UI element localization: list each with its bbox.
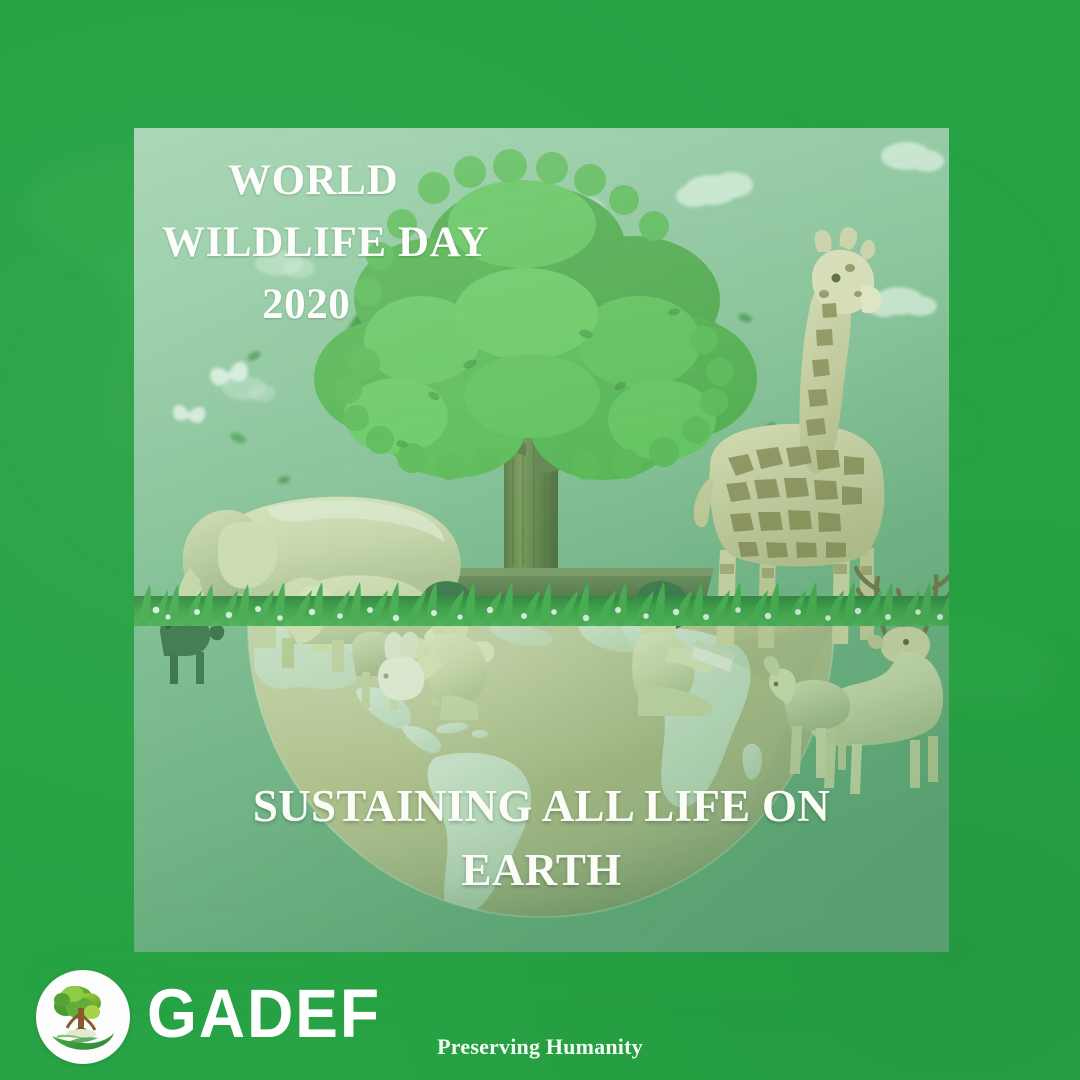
tagline-line-1: SUSTAINING ALL LIFE ON <box>134 774 949 838</box>
headline-line-1: WORLD <box>154 150 594 212</box>
headline: WORLD WILDLIFE DAY 2020 <box>154 150 594 336</box>
artwork-panel: WORLD WILDLIFE DAY 2020 SUSTAINING ALL L… <box>134 128 949 952</box>
headline-line-3: 2020 <box>154 274 594 336</box>
tagline-line-2: EARTH <box>134 838 949 902</box>
poster-tagline: SUSTAINING ALL LIFE ON EARTH <box>134 774 949 903</box>
headline-line-2: WILDLIFE DAY <box>154 212 594 274</box>
poster-canvas: WORLD WILDLIFE DAY 2020 SUSTAINING ALL L… <box>0 0 1080 1080</box>
brand-tagline: Preserving Humanity <box>0 1034 1080 1060</box>
